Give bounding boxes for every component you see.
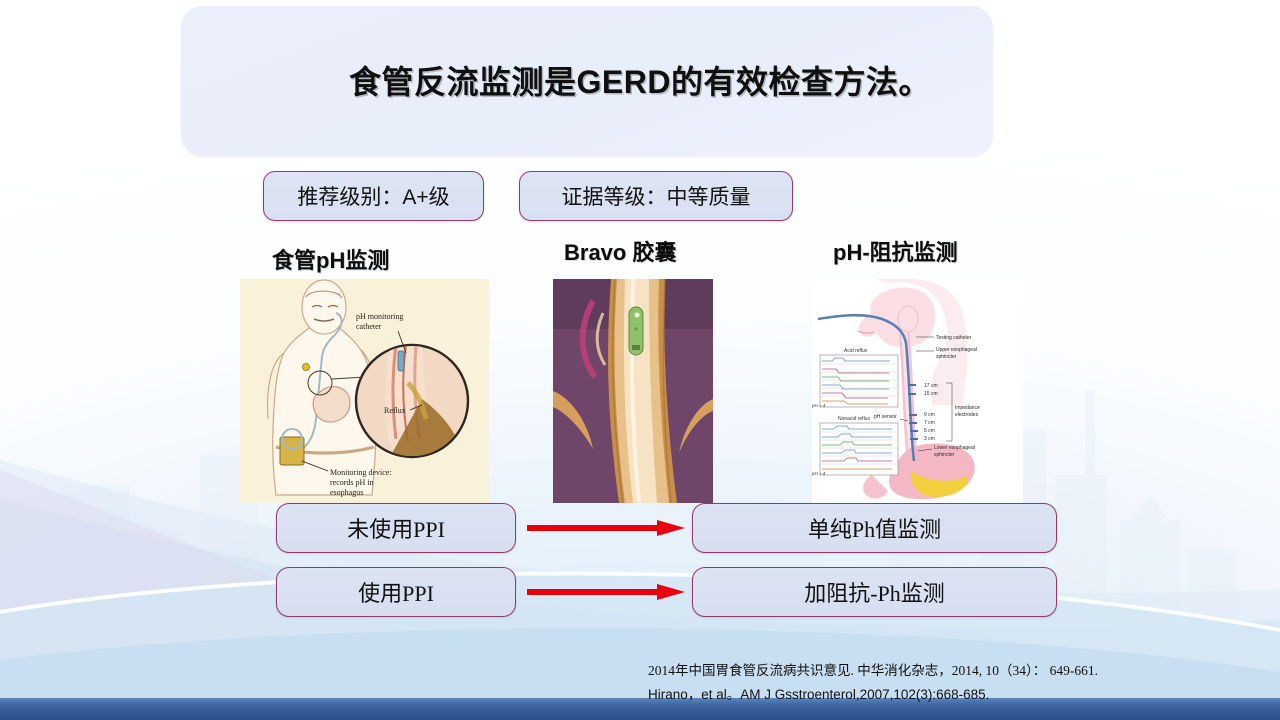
svg-text:Lower esophageal: Lower esophageal — [934, 445, 975, 451]
badge-recommendation-grade-label: 推荐级别：A+级 — [297, 181, 449, 211]
flow-condition-on-ppi-label: 使用PPI — [358, 576, 434, 608]
svg-text:17 cm: 17 cm — [924, 383, 938, 389]
slide-canvas: 食管反流监测是GERD的有效检查方法。 推荐级别：A+级 证据等级：中等质量 食… — [0, 0, 1280, 720]
svg-text:records pH in: records pH in — [330, 478, 374, 487]
svg-text:15 cm: 15 cm — [924, 391, 938, 397]
badge-evidence-level-label: 证据等级：中等质量 — [562, 181, 751, 211]
svg-text:Acid reflux: Acid reflux — [844, 348, 868, 354]
svg-text:5 cm: 5 cm — [924, 428, 935, 434]
svg-text:pH = 4: pH = 4 — [812, 471, 826, 476]
flow-condition-no-ppi[interactable]: 未使用PPI — [276, 503, 516, 553]
caption-bravo-capsule: Bravo 胶囊 — [564, 235, 676, 267]
flow-result-impedance-ph-label: 加阻抗-Ph监测 — [804, 576, 945, 608]
svg-text:pH sensor: pH sensor — [874, 414, 897, 420]
caption-esophageal-ph-monitoring: 食管pH监测 — [272, 243, 389, 275]
svg-text:7 cm: 7 cm — [924, 420, 935, 426]
svg-text:sphincter: sphincter — [936, 354, 957, 360]
arrow-right-icon-row2 — [527, 582, 687, 602]
page-title: 食管反流监测是GERD的有效检查方法。 — [0, 57, 1280, 103]
svg-text:pH monitoring: pH monitoring — [356, 312, 403, 321]
svg-text:Impedance: Impedance — [955, 405, 980, 411]
svg-text:3 cm: 3 cm — [924, 436, 935, 442]
svg-text:Upper esophageal: Upper esophageal — [936, 347, 977, 353]
footer-band — [0, 698, 1280, 720]
svg-text:Reflux: Reflux — [384, 406, 406, 415]
flow-condition-no-ppi-label: 未使用PPI — [347, 512, 445, 544]
svg-text:9 cm: 9 cm — [924, 412, 935, 418]
svg-text:sphincter: sphincter — [934, 452, 955, 458]
flow-result-impedance-ph[interactable]: 加阻抗-Ph监测 — [692, 567, 1057, 617]
figure-ph-impedance-monitoring: Acid reflux pH = 4 Nonacid reflux pH = 4 — [812, 279, 1023, 503]
badge-recommendation-grade[interactable]: 推荐级别：A+级 — [263, 171, 484, 221]
svg-text:catheter: catheter — [356, 322, 382, 331]
svg-text:pH = 4: pH = 4 — [812, 403, 826, 408]
badge-evidence-level[interactable]: 证据等级：中等质量 — [519, 171, 793, 221]
figure-bravo-capsule — [553, 279, 713, 503]
flow-condition-on-ppi[interactable]: 使用PPI — [276, 567, 516, 617]
svg-text:Testing catheter: Testing catheter — [936, 335, 972, 341]
svg-text:esophagus: esophagus — [330, 488, 363, 497]
reference-line-2: Hirano，et al。AM J Gsstroenterol,2007,102… — [648, 683, 989, 703]
svg-text:Nonacid reflux: Nonacid reflux — [838, 416, 870, 422]
flow-result-ph-only-label: 单纯Ph值监测 — [808, 512, 941, 544]
arrow-right-icon-row1 — [527, 518, 687, 538]
flow-result-ph-only[interactable]: 单纯Ph值监测 — [692, 503, 1057, 553]
svg-text:Monitoring device:: Monitoring device: — [330, 468, 392, 477]
svg-text:electrodes: electrodes — [955, 412, 979, 418]
reference-line-1: 2014年中国胃食管反流病共识意见. 中华消化杂志，2014, 10（34）： … — [648, 659, 1098, 679]
caption-ph-impedance-monitoring: pH-阻抗监测 — [833, 235, 958, 267]
figure-esophageal-ph-monitoring: pH monitoring catheter Reflux Monitoring… — [240, 279, 489, 503]
